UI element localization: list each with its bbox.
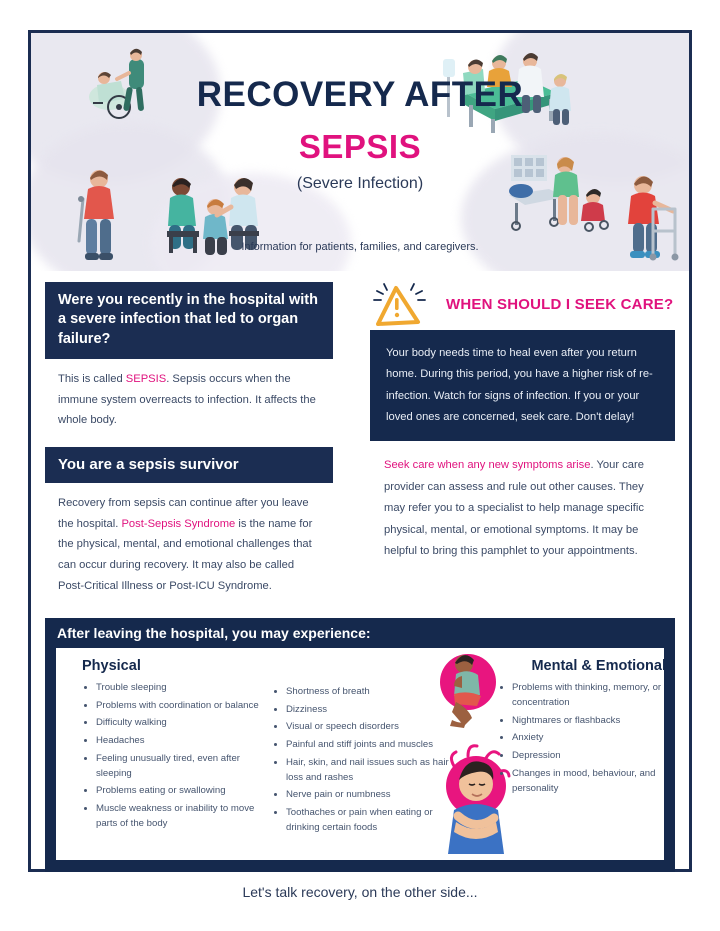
list-item: Depression [512,748,664,763]
list-item: Dizziness [286,702,452,717]
seek-care-keyword: Seek care when any new symptoms arise [384,459,590,471]
warning-triangle-icon [370,278,442,334]
list-item: Changes in mood, behaviour, and personal… [512,766,664,796]
list-item: Difficulty walking [96,715,272,730]
list-item: Nerve pain or numbness [286,787,452,802]
physical-title: Physical [82,658,272,674]
sepsis-keyword: SEPSIS [126,373,166,385]
hero-header: RECOVERY AFTER SEPSIS (Severe Infection)… [31,33,689,271]
left-column: Were you recently in the hospital with a… [45,282,333,605]
physical-column-2: Shortness of breath Dizziness Visual or … [272,684,452,838]
seek-care-header: WHEN SHOULD I SEEK CARE? [370,282,675,330]
survivor-heading: You are a sepsis survivor [45,447,333,483]
list-item: Problems with coordination or balance [96,698,272,713]
physical-list-1: Trouble sleeping Problems with coordinat… [82,680,272,831]
list-item: Shortness of breath [286,684,452,699]
seek-care-white-body: Seek care when any new symptoms arise. Y… [370,441,675,569]
list-item: Problems eating or swallowing [96,783,272,798]
list-item: Feeling unusually tired, even after slee… [96,751,272,781]
mental-title: Mental & Emotional [496,658,664,674]
symptoms-inner: Physical Trouble sleeping Problems with … [56,648,664,860]
list-item: Visual or speech disorders [286,719,452,734]
list-item: Nightmares or flashbacks [512,713,664,728]
list-item: Anxiety [512,730,664,745]
list-item: Problems with thinking, memory, or conce… [512,680,664,710]
infographic-page: RECOVERY AFTER SEPSIS (Severe Infection)… [0,0,720,931]
footer-text: Let's talk recovery, on the other side..… [242,884,477,900]
survivor-body: Recovery from sepsis can continue after … [45,483,333,605]
list-item: Hair, skin, and nail issues such as hair… [286,755,452,785]
mental-list: Problems with thinking, memory, or conce… [496,680,664,796]
page-title-highlight: SEPSIS [31,128,689,166]
page-audience-note: Information for patients, families, and … [31,241,689,253]
post-sepsis-syndrome-keyword: Post-Sepsis Syndrome [121,518,235,530]
list-item: Painful and stiff joints and muscles [286,737,452,752]
list-item: Headaches [96,733,272,748]
page-subtitle: (Severe Infection) [31,175,689,193]
seek-care-body-post: . Your care provider can assess and rule… [384,459,644,557]
list-item: Toothaches or pain when eating or drinki… [286,805,452,835]
physical-column-1: Physical Trouble sleeping Problems with … [82,658,272,834]
question-heading: Were you recently in the hospital with a… [45,282,333,359]
symptoms-banner: After leaving the hospital, you may expe… [45,618,455,648]
list-item: Trouble sleeping [96,680,272,695]
question-body-pre: This is called [58,373,126,385]
mental-column: Mental & Emotional Problems with thinkin… [496,658,664,799]
seek-care-navy-body: Your body needs time to heal even after … [370,330,675,441]
seek-care-title: WHEN SHOULD I SEEK CARE? [446,296,673,313]
physical-list-2: Shortness of breath Dizziness Visual or … [272,684,452,835]
footer: Let's talk recovery, on the other side..… [0,884,720,900]
symptoms-panel: After leaving the hospital, you may expe… [45,618,675,872]
question-body: This is called SEPSIS. Sepsis occurs whe… [45,359,333,439]
list-item: Muscle weakness or inability to move par… [96,801,272,831]
page-title: RECOVERY AFTER [31,75,689,115]
right-column: WHEN SHOULD I SEEK CARE? Your body needs… [370,282,675,569]
